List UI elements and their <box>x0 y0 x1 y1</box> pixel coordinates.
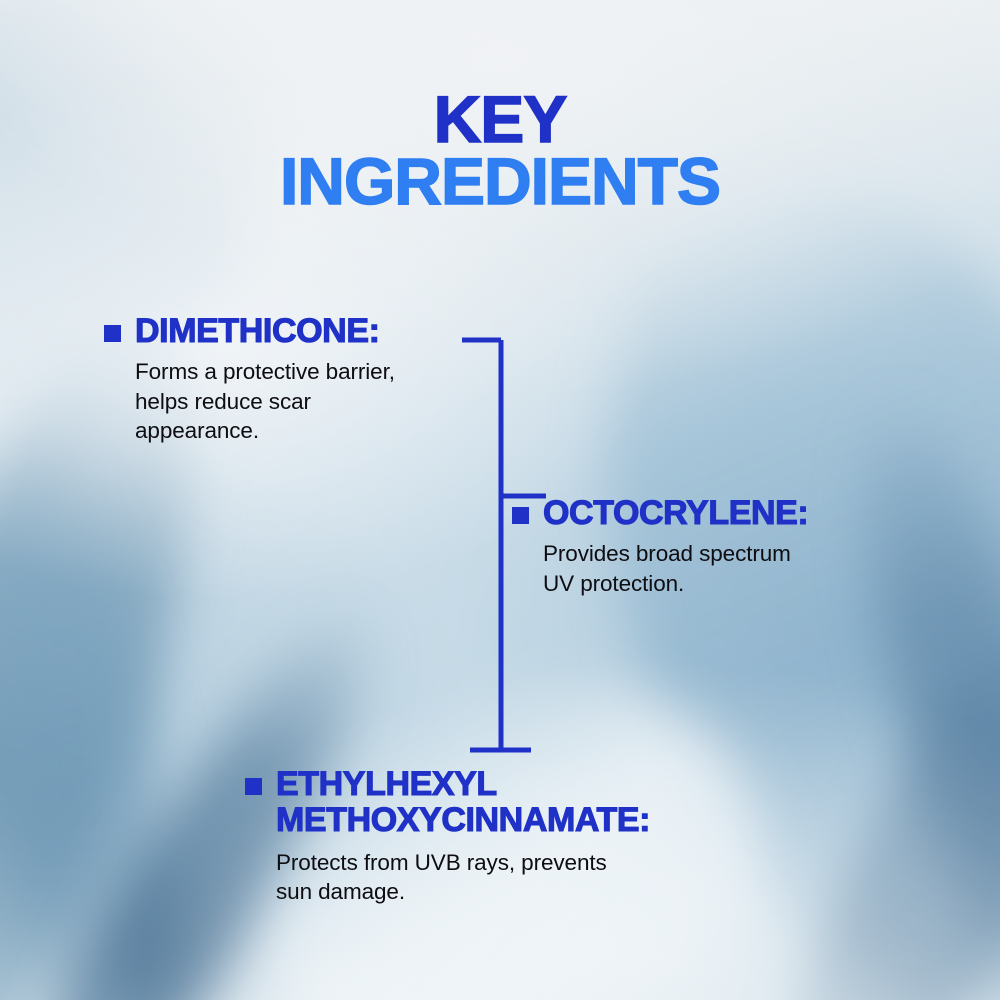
ingredient-name: DIMETHICONE: <box>135 313 380 349</box>
ingredient-heading-row: DIMETHICONE: <box>104 313 524 349</box>
square-bullet-icon <box>512 507 529 524</box>
ingredient-heading-row: OCTOCRYLENE: <box>512 495 952 531</box>
ingredient-description: Forms a protective barrier, helps reduce… <box>135 357 524 445</box>
ingredient-description: Provides broad spectrum UV protection. <box>543 539 952 598</box>
ingredient-name: ETHYLHEXYL METHOXYCINNAMATE: <box>276 766 650 839</box>
ingredient-block-ethylhexyl-methoxycinnamate: ETHYLHEXYL METHOXYCINNAMATE: Protects fr… <box>245 766 805 906</box>
ingredient-description: Protects from UVB rays, prevents sun dam… <box>276 848 805 907</box>
ingredient-block-octocrylene: OCTOCRYLENE: Provides broad spectrum UV … <box>512 495 952 598</box>
square-bullet-icon <box>104 325 121 342</box>
ingredient-block-dimethicone: DIMETHICONE: Forms a protective barrier,… <box>104 313 524 445</box>
square-bullet-icon <box>245 778 262 795</box>
ingredient-name: OCTOCRYLENE: <box>543 495 808 531</box>
ingredient-heading-row: ETHYLHEXYL METHOXYCINNAMATE: <box>245 766 805 839</box>
infographic-canvas: KEY INGREDIENTS DIMETHICONE: Forms a pro… <box>0 0 1000 1000</box>
